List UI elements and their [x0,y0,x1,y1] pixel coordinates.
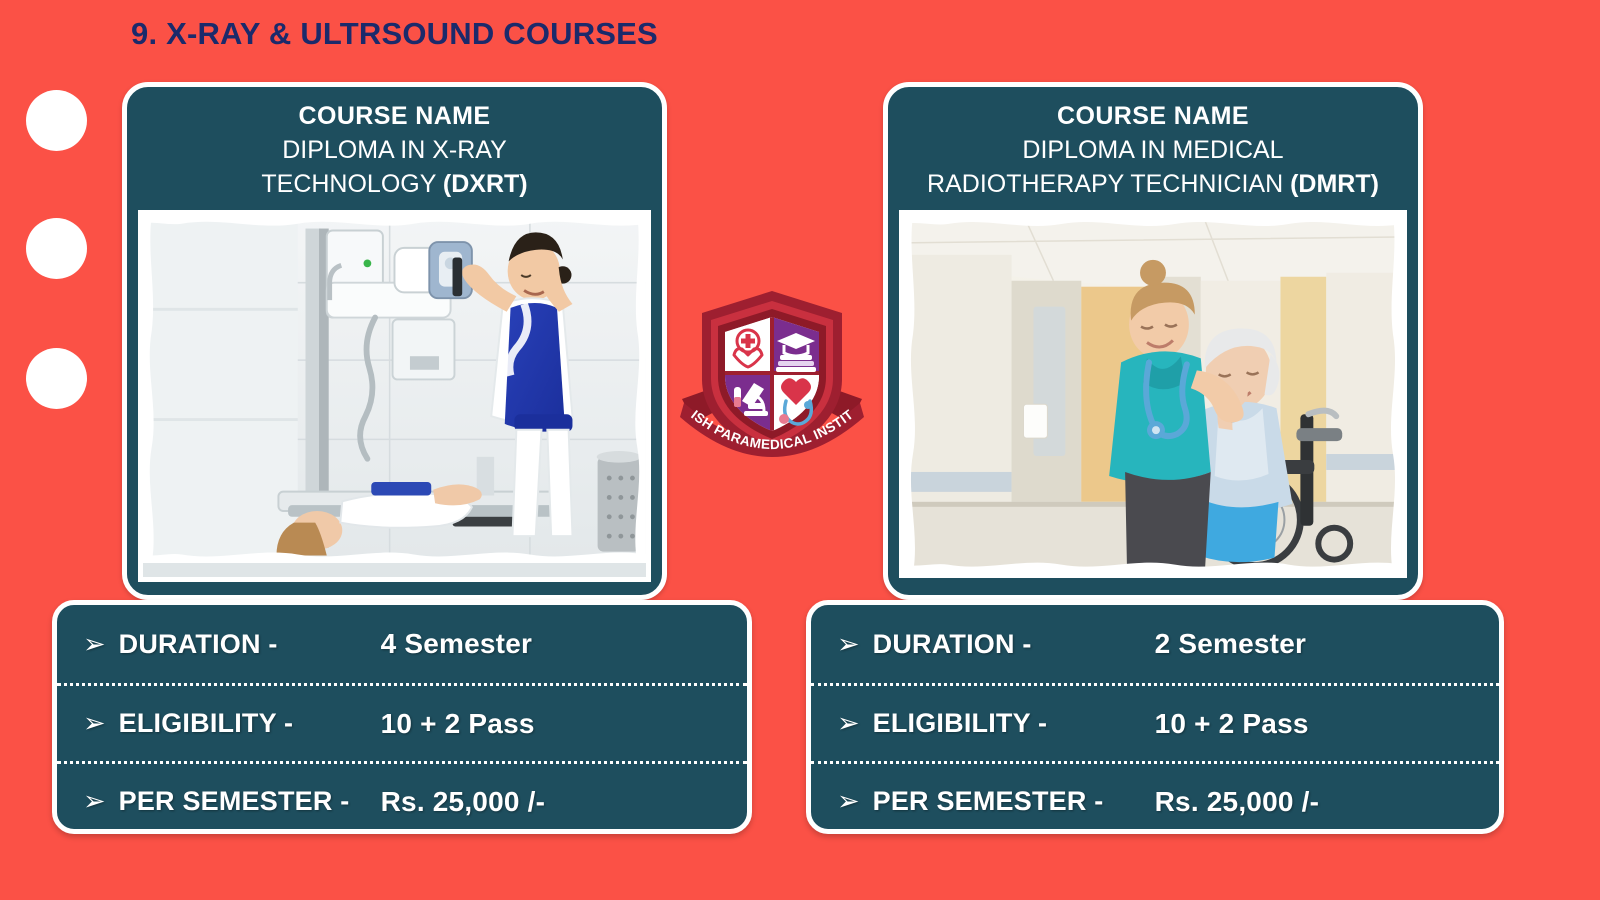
xray-room-illustration [143,215,646,563]
detail-label-duration: DURATION - [873,629,1141,660]
arrow-bullet-icon: ➢ [837,631,860,658]
detail-value-duration: 2 Semester [1155,628,1306,660]
decorative-circle-3 [26,348,87,409]
detail-row-eligibility: ➢ ELIGIBILITY - 10 + 2 Pass [811,683,1499,761]
detail-row-duration: ➢ DURATION - 2 Semester [811,605,1499,683]
detail-value-fee: Rs. 25,000 /- [381,786,545,818]
serish-paramedical-institute-logo: SERISH PARAMEDICAL INSTITUTE [676,283,868,475]
course-title-line1: DIPLOMA IN MEDICAL [898,132,1408,166]
course-name-label: COURSE NAME [137,101,652,132]
detail-row-eligibility: ➢ ELIGIBILITY - 10 + 2 Pass [57,683,747,761]
course-title-line2: TECHNOLOGY (DXRT) [137,166,652,200]
page-title: 9. X-RAY & ULTRSOUND COURSES [131,16,658,52]
course-details-dxrt: ➢ DURATION - 4 Semester ➢ ELIGIBILITY - … [52,600,752,834]
course-details-dmrt: ➢ DURATION - 2 Semester ➢ ELIGIBILITY - … [806,600,1504,834]
radiotherapy-nurse-photo [904,215,1402,573]
course-header-dmrt: COURSE NAME DIPLOMA IN MEDICAL RADIOTHER… [888,87,1418,200]
arrow-bullet-icon: ➢ [83,631,106,658]
decorative-circle-2 [26,218,87,279]
detail-label-eligibility: ELIGIBILITY - [873,708,1141,739]
detail-label-fee: PER SEMESTER - [119,786,369,817]
course-title-line2: RADIOTHERAPY TECHNICIAN (DMRT) [898,166,1408,200]
arrow-bullet-icon: ➢ [837,788,860,815]
detail-label-duration: DURATION - [119,629,369,660]
decorative-circle-1 [26,90,87,151]
detail-label-eligibility: ELIGIBILITY - [119,708,369,739]
course-title-text: RADIOTHERAPY TECHNICIAN [927,170,1290,198]
detail-value-eligibility: 10 + 2 Pass [381,708,535,740]
detail-value-eligibility: 10 + 2 Pass [1155,708,1309,740]
course-title-line1: DIPLOMA IN X-RAY [137,132,652,166]
arrow-bullet-icon: ➢ [837,710,860,737]
course-card-dxrt: COURSE NAME DIPLOMA IN X-RAY TECHNOLOGY … [122,82,667,600]
course-header-dxrt: COURSE NAME DIPLOMA IN X-RAY TECHNOLOGY … [127,87,662,200]
hospital-corridor-illustration [904,215,1402,573]
detail-row-fee: ➢ PER SEMESTER - Rs. 25,000 /- [57,761,747,834]
course-abbreviation: (DMRT) [1290,170,1379,198]
course-title-text: TECHNOLOGY [261,170,443,198]
photo-frame-dxrt [138,210,651,582]
detail-value-duration: 4 Semester [381,628,532,660]
course-abbreviation: (DXRT) [443,170,528,198]
arrow-bullet-icon: ➢ [83,788,106,815]
course-name-label: COURSE NAME [898,101,1408,132]
course-card-dmrt: COURSE NAME DIPLOMA IN MEDICAL RADIOTHER… [883,82,1423,600]
detail-row-duration: ➢ DURATION - 4 Semester [57,605,747,683]
detail-value-fee: Rs. 25,000 /- [1155,786,1319,818]
xray-technician-photo [143,215,646,577]
photo-frame-dmrt [899,210,1407,578]
detail-row-fee: ➢ PER SEMESTER - Rs. 25,000 /- [811,761,1499,834]
arrow-bullet-icon: ➢ [83,710,106,737]
detail-label-fee: PER SEMESTER - [873,786,1141,817]
